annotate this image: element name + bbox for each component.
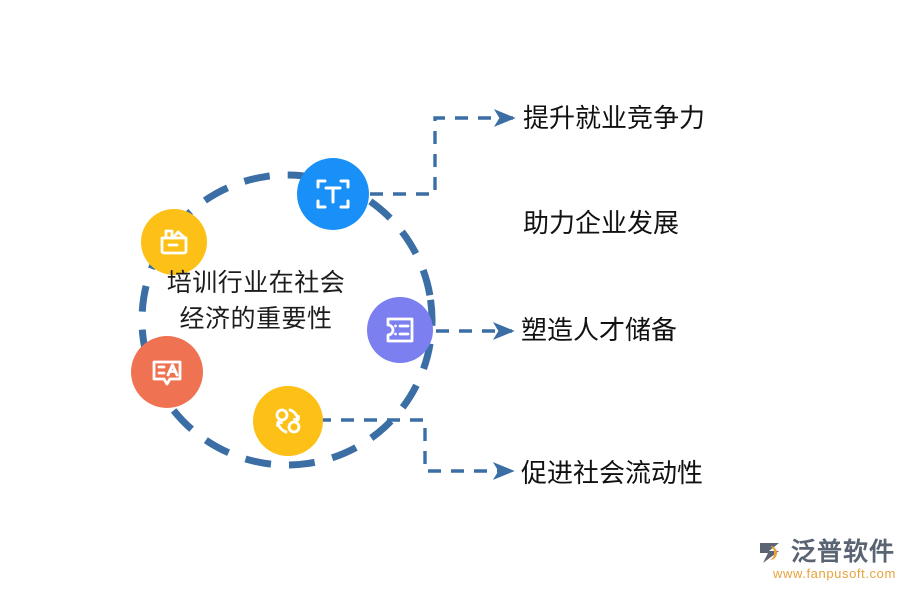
connector-outcome-0 [370, 118, 513, 194]
connector-outcome-3 [318, 420, 512, 471]
outcome-label-talent-reserve: 塑造人才储备 [521, 316, 677, 346]
diagram-connectors-layer [0, 0, 900, 600]
outcome-label-enterprise-development: 助力企业发展 [523, 209, 679, 239]
watermark-url: www.fanpusoft.com [773, 566, 896, 581]
center-concept-label: 培训行业在社会 经济的重要性 [136, 266, 376, 338]
center-label-line-1: 培训行业在社会 [136, 266, 376, 302]
node-ticket-list[interactable] [367, 297, 433, 363]
outcome-label-social-mobility: 促进社会流动性 [521, 459, 703, 489]
center-label-line-2: 经济的重要性 [136, 302, 376, 338]
fanpu-logo-icon [757, 540, 787, 566]
node-share-network[interactable] [253, 386, 323, 456]
node-text-recognition[interactable] [297, 158, 369, 230]
ticket-list-icon [381, 311, 419, 349]
translate-bubble-icon [147, 352, 187, 392]
diagram-canvas: 培训行业在社会 经济的重要性 提升就业竞争力 助力企业发展 塑造人才储备 促进社… [0, 0, 900, 600]
text-scan-icon [313, 174, 353, 214]
node-translate[interactable] [131, 336, 203, 408]
watermark-brand: 泛普软件 [791, 538, 895, 566]
watermark: 泛普软件 www.fanpusoft.com [757, 538, 892, 584]
outcome-label-employment-competitiveness: 提升就业竞争力 [523, 104, 705, 134]
folder-basket-icon [156, 224, 192, 260]
share-network-icon [268, 401, 308, 441]
